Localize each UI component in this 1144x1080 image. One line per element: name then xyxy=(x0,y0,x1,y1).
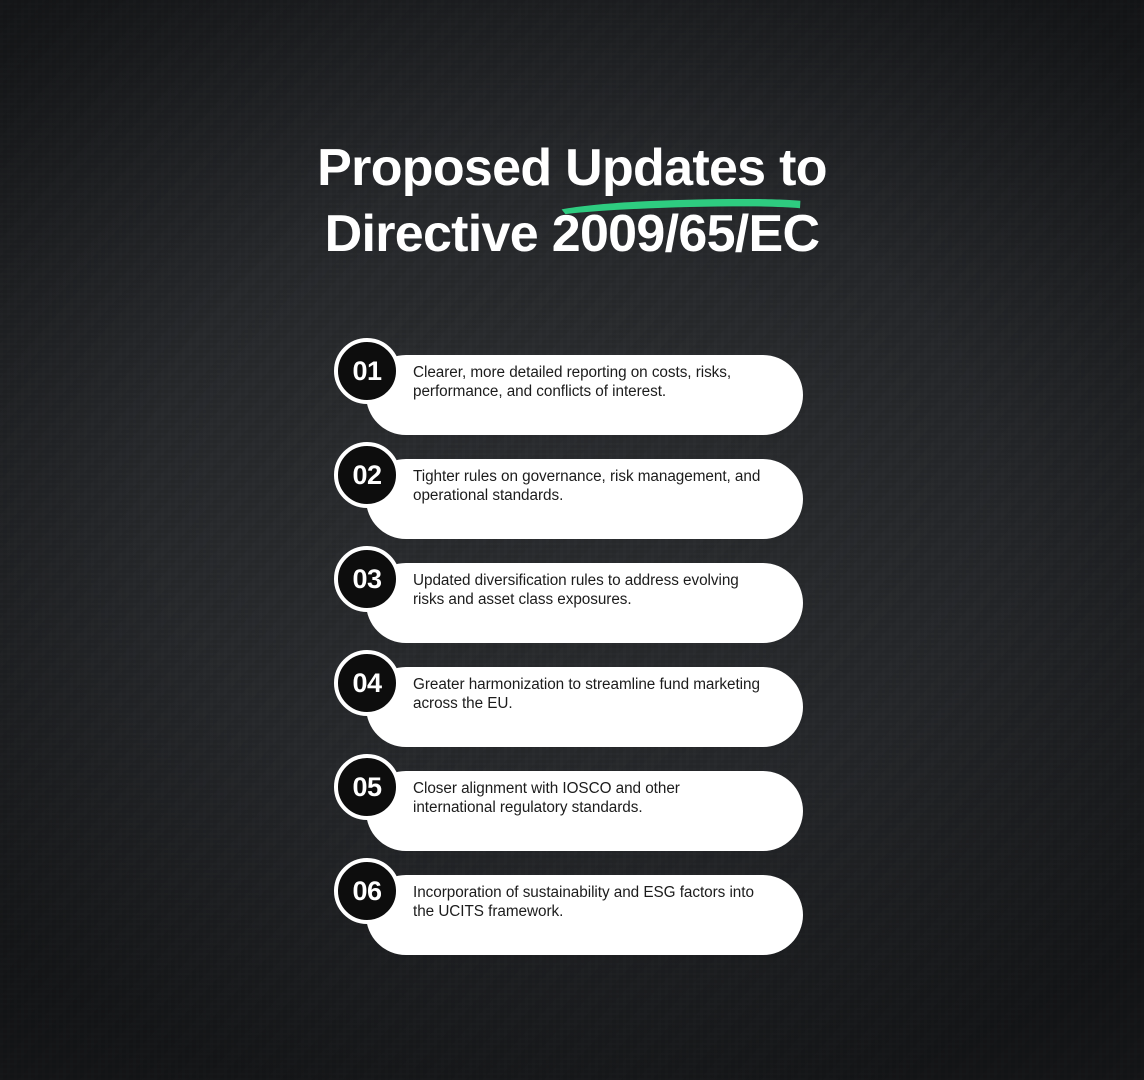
step-description: Tighter rules on governance, risk manage… xyxy=(413,468,763,505)
step-number-badge: 04 xyxy=(334,650,400,716)
step-number-badge: 01 xyxy=(334,338,400,404)
step-description: Incorporation of sustainability and ESG … xyxy=(413,884,763,921)
page-title-line-2: Directive 2009/65/EC xyxy=(0,201,1144,267)
list-item[interactable]: Tighter rules on governance, risk manage… xyxy=(334,442,814,546)
step-description: Clearer, more detailed reporting on cost… xyxy=(413,364,763,401)
step-description: Greater harmonization to streamline fund… xyxy=(413,676,763,713)
list-item[interactable]: Closer alignment with IOSCO and other in… xyxy=(334,754,814,858)
step-number-label: 02 xyxy=(352,462,381,489)
step-number-label: 03 xyxy=(352,566,381,593)
step-number-label: 04 xyxy=(352,670,381,697)
list-item[interactable]: Clearer, more detailed reporting on cost… xyxy=(334,338,814,442)
step-number-badge: 05 xyxy=(334,754,400,820)
step-description: Updated diversification rules to address… xyxy=(413,572,763,609)
page-title: Proposed Updates to Directive 2009/65/EC xyxy=(0,135,1144,267)
step-description: Closer alignment with IOSCO and other in… xyxy=(413,780,763,817)
step-number-label: 06 xyxy=(352,878,381,905)
step-number-label: 01 xyxy=(352,358,381,385)
steps-list: Clearer, more detailed reporting on cost… xyxy=(334,338,814,962)
step-number-badge: 06 xyxy=(334,858,400,924)
page-title-line-1: Proposed Updates to xyxy=(0,135,1144,201)
step-number-badge: 03 xyxy=(334,546,400,612)
list-item[interactable]: Greater harmonization to streamline fund… xyxy=(334,650,814,754)
step-number-badge: 02 xyxy=(334,442,400,508)
infographic-poster: Proposed Updates to Directive 2009/65/EC… xyxy=(0,0,1144,1080)
list-item[interactable]: Incorporation of sustainability and ESG … xyxy=(334,858,814,962)
list-item[interactable]: Updated diversification rules to address… xyxy=(334,546,814,650)
step-number-label: 05 xyxy=(352,774,381,801)
